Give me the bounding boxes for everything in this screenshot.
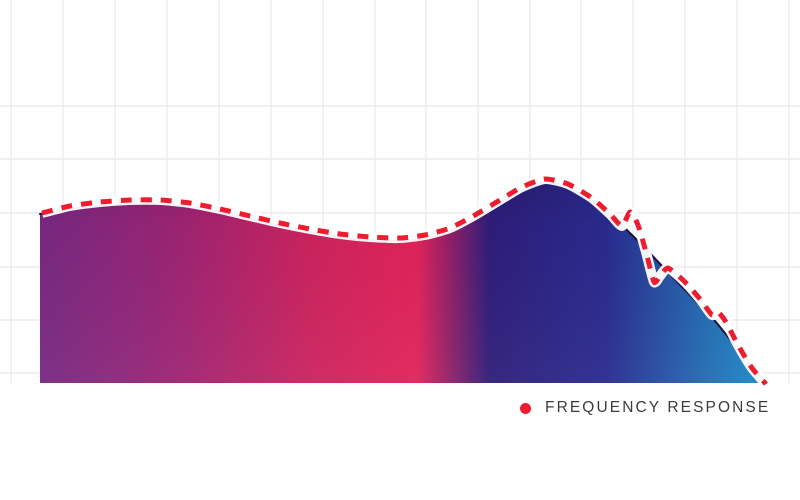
- chart-plot-area: [0, 0, 800, 500]
- legend-label: FREQUENCY RESPONSE: [545, 399, 770, 417]
- area-vertical-shading: [0, 0, 800, 500]
- chart-legend: FREQUENCY RESPONSE: [520, 398, 770, 418]
- legend-marker-dot-icon: [520, 403, 531, 414]
- frequency-response-chart: FREQUENCY RESPONSE: [0, 0, 800, 500]
